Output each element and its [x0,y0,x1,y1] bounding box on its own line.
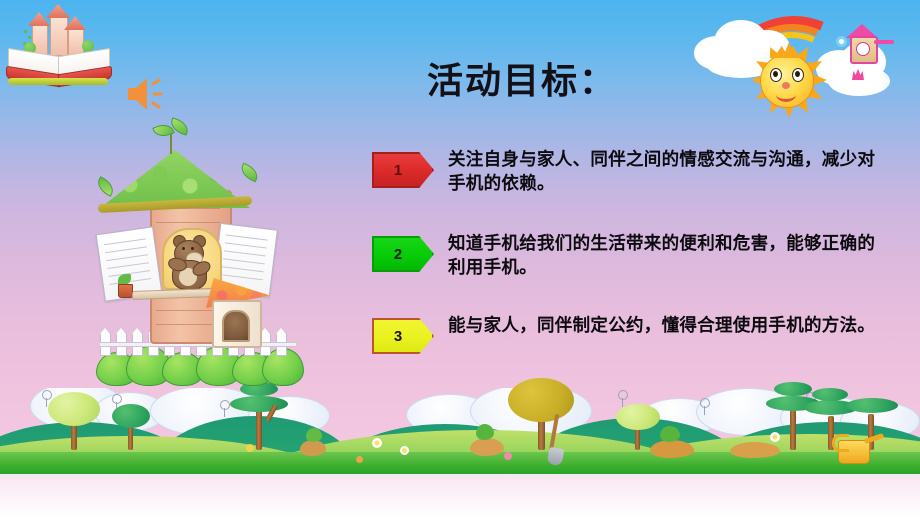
goal-text-2: 知道手机给我们的生活带来的便利和危害，能够正确的利用手机。 [448,232,878,280]
goal-text-1: 关注自身与家人、同伴之间的情感交流与沟通，减少对手机的依赖。 [448,148,878,196]
smiling-sun-icon [750,44,822,116]
small-flower-icon [836,36,847,47]
sky-scene-decoration [690,0,920,142]
goal-badge-1: 1 [372,152,434,188]
goal-badge-3: 3 [372,318,434,354]
goal-badge-2: 2 [372,236,434,272]
goal-number-1: 1 [394,163,402,178]
slide-canvas: 活动目标： 1 关注自身与家人、同伴之间的情感交流与沟通，减少对手机的依赖。 2… [0,0,920,518]
speaker-icon[interactable] [124,74,168,114]
page-title: 活动目标： [372,62,672,102]
goal-item-2: 2 知道手机给我们的生活带来的便利和危害，能够正确的利用手机。 [372,236,892,280]
popup-book-icon [6,8,110,90]
birdhouse-icon [842,22,898,74]
bear-character [166,236,216,290]
goal-number-2: 2 [394,247,402,262]
goal-text-3: 能与家人，同伴制定公约，懂得合理使用手机的方法。 [448,314,878,338]
goal-item-3: 3 能与家人，同伴制定公约，懂得合理使用手机的方法。 [372,318,892,354]
goal-item-1: 1 关注自身与家人、同伴之间的情感交流与沟通，减少对手机的依赖。 [372,152,892,196]
bottom-strip [0,472,920,518]
goal-number-3: 3 [394,329,402,344]
bear-treehouse-illustration [104,150,292,350]
